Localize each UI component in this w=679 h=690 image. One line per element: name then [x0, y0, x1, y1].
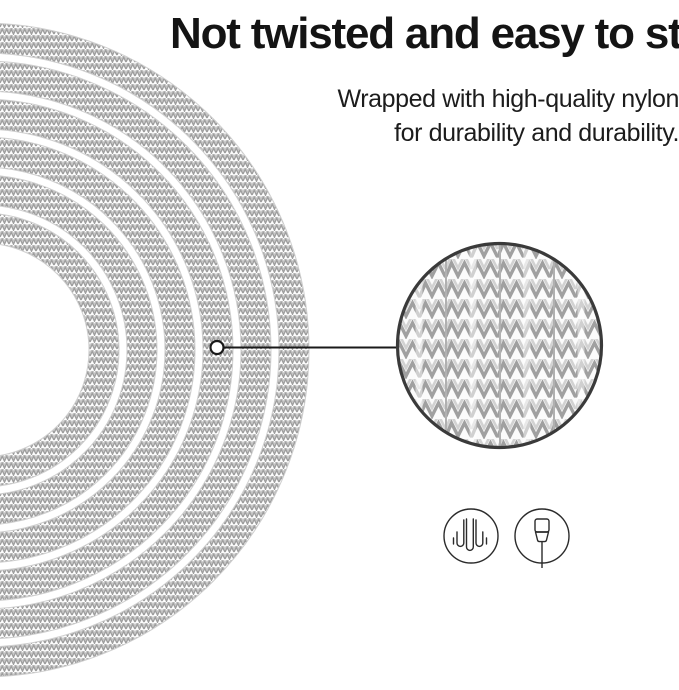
callout-dot	[211, 341, 224, 354]
product-feature-image: Not twisted and easy to store Wrapped wi…	[0, 0, 679, 690]
subtitle: Wrapped with high-quality nylon for dura…	[250, 82, 679, 150]
weave-fill	[393, 239, 606, 452]
subtitle-line-2: for durability and durability.	[250, 116, 679, 150]
nylon-fibers-icon	[441, 506, 501, 572]
subtitle-line-1: Wrapped with high-quality nylon	[250, 82, 679, 116]
magnifier-svg	[393, 239, 606, 452]
page-title: Not twisted and easy to store	[170, 8, 679, 60]
callout-leader	[200, 330, 415, 366]
nylon-weave-magnifier	[393, 239, 606, 452]
usb-connector-icon	[512, 506, 572, 572]
feature-icon-row	[441, 506, 571, 578]
